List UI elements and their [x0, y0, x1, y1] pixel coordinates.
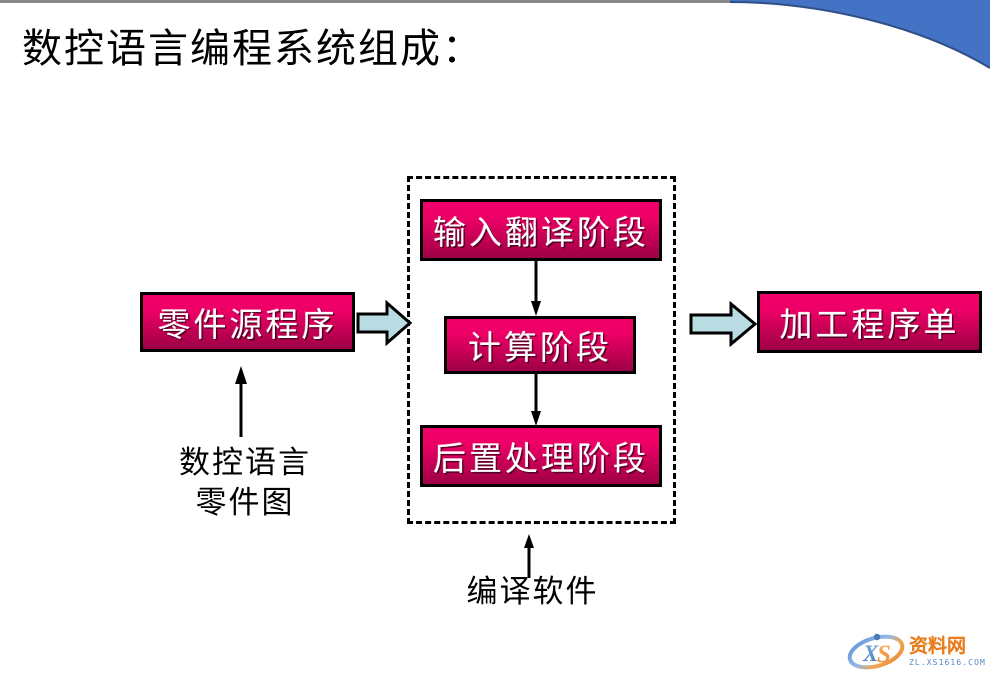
watermark: X S 资料网 ZL.XS1616.COM — [846, 630, 986, 674]
page-title: 数控语言编程系统组成： — [22, 26, 484, 72]
process-box-post-processing[interactable]: 后置处理阶段 — [420, 425, 662, 487]
arrow-down-icon — [528, 259, 544, 317]
process-box-label: 输入翻译阶段 — [433, 206, 649, 254]
arrow-down-icon — [528, 373, 544, 427]
process-box-label: 加工程序单 — [780, 298, 960, 346]
block-arrow-right-icon — [689, 300, 757, 348]
arrow-up-icon — [233, 365, 249, 437]
corner-swoosh-decoration — [730, 0, 990, 70]
process-box-input-translation[interactable]: 输入翻译阶段 — [420, 199, 662, 261]
process-box-calculation[interactable]: 计算阶段 — [444, 316, 636, 374]
process-box-label: 零件源程序 — [158, 298, 338, 346]
xs-logo-icon: X S — [846, 631, 906, 673]
svg-text:S: S — [877, 641, 891, 668]
slide-canvas: 数控语言编程系统组成： 零件源程序 输入翻译阶段 计算阶段 后置处理阶段 加工程… — [0, 0, 990, 678]
block-arrow-right-icon — [356, 299, 412, 347]
annotation-compiler-software: 编译软件 — [445, 572, 620, 612]
process-box-source-program[interactable]: 零件源程序 — [140, 292, 355, 352]
annotation-nc-language-part-drawing: 数控语言 零件图 — [160, 443, 330, 522]
process-box-machining-program[interactable]: 加工程序单 — [757, 291, 982, 353]
top-divider-rule — [0, 0, 990, 3]
process-box-label: 计算阶段 — [468, 321, 612, 369]
process-box-label: 后置处理阶段 — [433, 432, 649, 480]
watermark-site-url: ZL.XS1616.COM — [909, 658, 986, 667]
watermark-site-name: 资料网 — [909, 637, 986, 656]
